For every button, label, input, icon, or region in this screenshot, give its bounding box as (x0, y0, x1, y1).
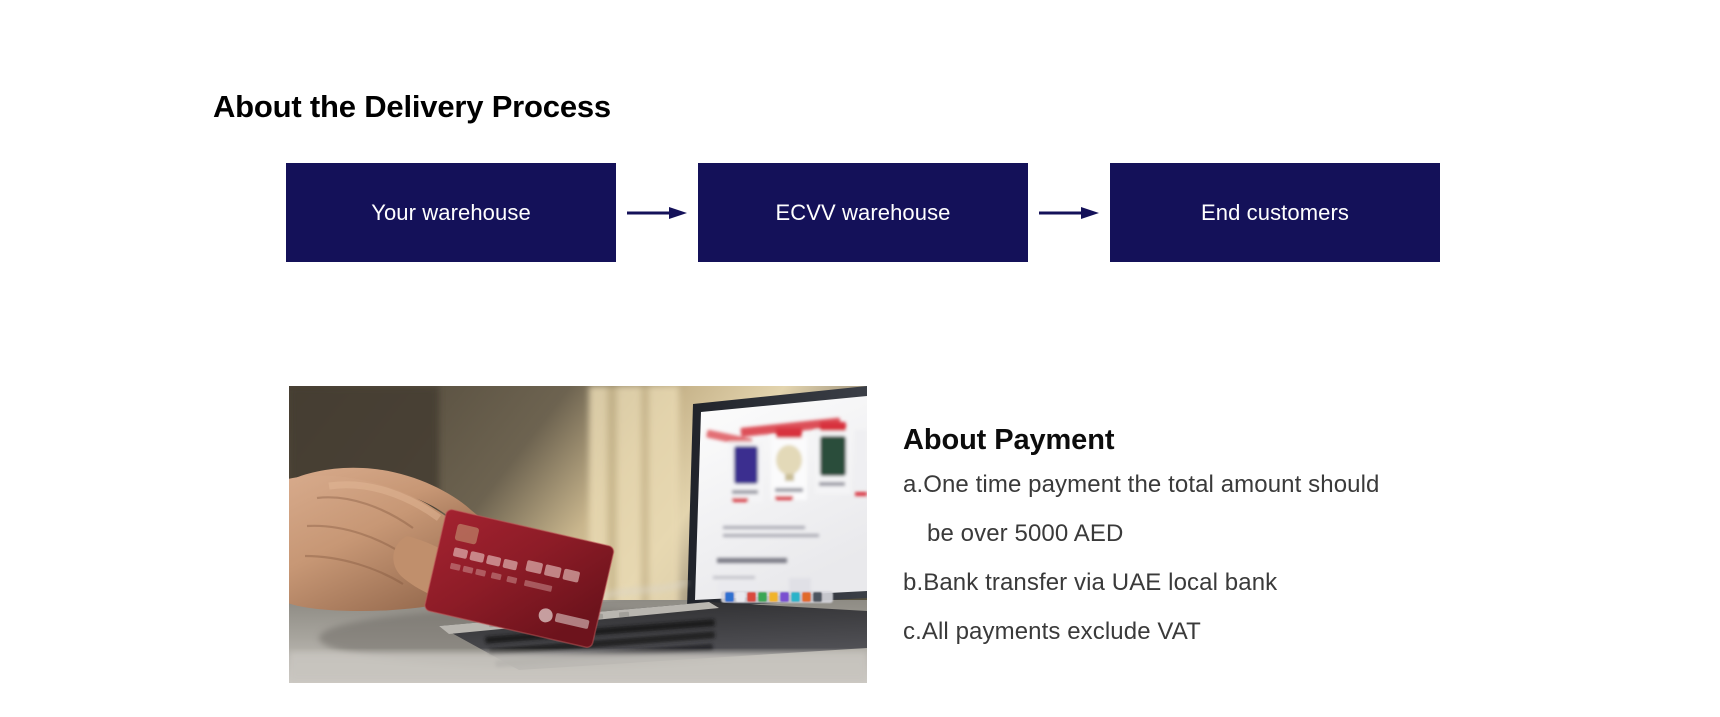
delivery-flow-diagram: Your warehouse ECVV warehouse End custom… (286, 163, 1440, 262)
flow-step-label: ECVV warehouse (775, 200, 950, 226)
flow-step-your-warehouse: Your warehouse (286, 163, 616, 262)
flow-step-end-customers: End customers (1110, 163, 1440, 262)
flow-step-label: Your warehouse (371, 200, 531, 226)
payment-term-item: a.One time payment the total amount shou… (903, 460, 1523, 509)
flow-step-ecvv-warehouse: ECVV warehouse (698, 163, 1028, 262)
flow-step-label: End customers (1201, 200, 1349, 226)
arrow-right-icon-2 (1028, 163, 1110, 262)
payment-terms-list: a.One time payment the total amount shou… (903, 460, 1523, 656)
arrow-right-icon-1 (616, 163, 698, 262)
payment-term-item: b.Bank transfer via UAE local bank (903, 558, 1523, 607)
payment-heading: About Payment (903, 424, 1114, 457)
payment-photo (289, 386, 867, 683)
payment-term-item: c.All payments exclude VAT (903, 607, 1523, 656)
delivery-process-heading: About the Delivery Process (213, 88, 611, 125)
payment-term-item-continuation: be over 5000 AED (903, 509, 1523, 558)
